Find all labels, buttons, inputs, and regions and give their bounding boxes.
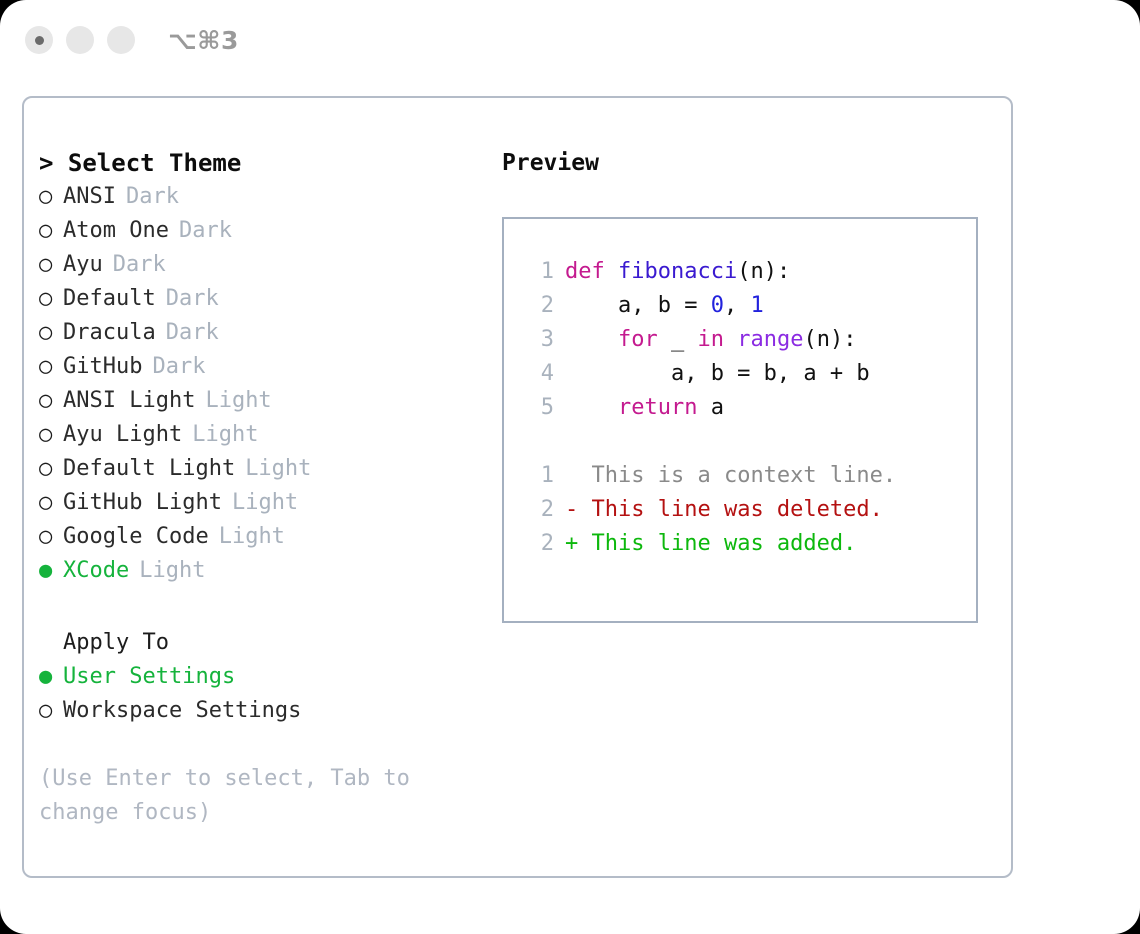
radio-unselected-icon: ○: [39, 316, 63, 350]
theme-picker-column: > Select Theme ○ANSIDark○Atom OneDark○Ay…: [39, 146, 499, 830]
theme-option-kind: Dark: [179, 214, 232, 248]
radio-unselected-icon: ○: [39, 350, 63, 384]
theme-option-label: Default Light: [63, 452, 235, 486]
window-controls: [25, 26, 135, 54]
theme-option-default-light[interactable]: ○Default LightLight: [39, 452, 499, 486]
theme-option-label: Ayu: [63, 248, 103, 282]
line-number: 1: [520, 255, 554, 289]
diff-line-ctx: 1 This is a context line.: [520, 459, 976, 493]
code-line-text: return a: [565, 391, 724, 425]
code-token-plain: ,: [724, 293, 751, 318]
theme-option-kind: Dark: [113, 248, 166, 282]
select-theme-heading: > Select Theme: [39, 146, 499, 180]
apply-to-list: ●User Settings○Workspace Settings: [39, 660, 499, 728]
code-line-text: a, b = b, a + b: [565, 357, 870, 391]
line-number: 2: [520, 289, 554, 323]
theme-option-ansi-light[interactable]: ○ANSI LightLight: [39, 384, 499, 418]
preview-box: 1def fibonacci(n):2 a, b = 0, 13 for _ i…: [502, 217, 978, 623]
window-dot-active-inner: [35, 36, 44, 45]
panel-columns: > Select Theme ○ANSIDark○Atom OneDark○Ay…: [24, 98, 1011, 876]
diff-line-text: This line was deleted.: [592, 493, 883, 527]
radio-unselected-icon: ○: [39, 520, 63, 554]
code-token-fn: fibonacci: [618, 259, 737, 284]
code-token-plain: (n):: [803, 327, 856, 352]
theme-option-ayu-light[interactable]: ○Ayu LightLight: [39, 418, 499, 452]
title-bar: ⌥⌘3: [0, 0, 1140, 80]
theme-option-kind: Dark: [152, 350, 205, 384]
line-number: 4: [520, 357, 554, 391]
radio-unselected-icon: ○: [39, 452, 63, 486]
theme-option-label: Atom One: [63, 214, 169, 248]
code-token-plain: _: [658, 327, 698, 352]
apply-to-option-workspace-settings[interactable]: ○Workspace Settings: [39, 694, 499, 728]
apply-to-option-label: User Settings: [63, 660, 235, 694]
radio-unselected-icon: ○: [39, 214, 63, 248]
code-line: 5 return a: [520, 391, 976, 425]
diff-marker: +: [565, 527, 592, 561]
code-token-num: 0: [711, 293, 724, 318]
preview-column: Preview 1def fibonacci(n):2 a, b = 0, 13…: [502, 146, 1002, 623]
theme-option-ayu[interactable]: ○AyuDark: [39, 248, 499, 282]
theme-option-github[interactable]: ○GitHubDark: [39, 350, 499, 384]
code-token-plain: a, b = b, a + b: [565, 361, 870, 386]
theme-option-xcode[interactable]: ●XCodeLight: [39, 554, 499, 588]
theme-option-github-light[interactable]: ○GitHub LightLight: [39, 486, 499, 520]
code-line: 1def fibonacci(n):: [520, 255, 976, 289]
apply-to-option-label: Workspace Settings: [63, 694, 301, 728]
radio-unselected-icon: ○: [39, 384, 63, 418]
theme-option-kind: Light: [205, 384, 271, 418]
window-dot-3[interactable]: [107, 26, 135, 54]
radio-selected-icon: ●: [39, 660, 63, 694]
diff-line-del: 2- This line was deleted.: [520, 493, 976, 527]
theme-option-label: Default: [63, 282, 156, 316]
code-token-plain: [724, 327, 737, 352]
code-line: 2 a, b = 0, 1: [520, 289, 976, 323]
code-token-kw: return: [618, 395, 697, 420]
code-line: 3 for _ in range(n):: [520, 323, 976, 357]
diff-line-text: This is a context line.: [592, 459, 897, 493]
theme-option-kind: Light: [219, 520, 285, 554]
radio-selected-icon: ●: [39, 554, 63, 588]
code-token-kw: def: [565, 259, 618, 284]
diff-marker: -: [565, 493, 592, 527]
theme-option-google-code[interactable]: ○Google CodeLight: [39, 520, 499, 554]
theme-option-kind: Light: [245, 452, 311, 486]
code-token-kw: for: [618, 327, 658, 352]
hint-spacer: [39, 728, 499, 762]
theme-option-label: ANSI Light: [63, 384, 195, 418]
theme-option-kind: Dark: [166, 316, 219, 350]
main-panel: > Select Theme ○ANSIDark○Atom OneDark○Ay…: [22, 96, 1013, 878]
theme-option-kind: Light: [139, 554, 205, 588]
line-number: 3: [520, 323, 554, 357]
theme-option-default[interactable]: ○DefaultDark: [39, 282, 499, 316]
app-window: ⌥⌘3 > Select Theme ○ANSIDark○Atom OneDar…: [0, 0, 1140, 934]
theme-option-label: GitHub: [63, 350, 142, 384]
diff-line-text: This line was added.: [592, 527, 857, 561]
theme-option-kind: Light: [192, 418, 258, 452]
code-line-text: def fibonacci(n):: [565, 255, 790, 289]
radio-unselected-icon: ○: [39, 418, 63, 452]
theme-option-kind: Light: [232, 486, 298, 520]
code-token-plain: [565, 395, 618, 420]
code-token-plain: a: [697, 395, 724, 420]
theme-option-ansi[interactable]: ○ANSIDark: [39, 180, 499, 214]
theme-option-label: XCode: [63, 554, 129, 588]
section-spacer: [39, 588, 499, 626]
theme-option-label: Ayu Light: [63, 418, 182, 452]
diff-sample: 1 This is a context line.2- This line wa…: [520, 459, 976, 561]
theme-option-label: Google Code: [63, 520, 209, 554]
theme-option-kind: Dark: [166, 282, 219, 316]
window-dot-active[interactable]: [25, 26, 53, 54]
code-sample: 1def fibonacci(n):2 a, b = 0, 13 for _ i…: [520, 255, 976, 425]
theme-option-kind: Dark: [126, 180, 179, 214]
theme-option-label: GitHub Light: [63, 486, 222, 520]
code-token-num: 1: [750, 293, 763, 318]
window-dot-2[interactable]: [66, 26, 94, 54]
line-number: 1: [520, 459, 554, 493]
code-token-plain: [565, 327, 618, 352]
theme-option-dracula[interactable]: ○DraculaDark: [39, 316, 499, 350]
line-number: 5: [520, 391, 554, 425]
theme-option-label: ANSI: [63, 180, 116, 214]
code-token-plain: (n):: [737, 259, 790, 284]
line-number: 2: [520, 527, 554, 561]
theme-list: ○ANSIDark○Atom OneDark○AyuDark○DefaultDa…: [39, 180, 499, 588]
code-line-text: for _ in range(n):: [565, 323, 856, 357]
preview-heading: Preview: [502, 146, 1002, 180]
radio-unselected-icon: ○: [39, 248, 63, 282]
code-line-text: a, b = 0, 1: [565, 289, 764, 323]
code-token-plain: a, b =: [565, 293, 711, 318]
apply-to-heading: Apply To: [39, 626, 499, 660]
radio-unselected-icon: ○: [39, 282, 63, 316]
radio-unselected-icon: ○: [39, 180, 63, 214]
keyboard-shortcut-label: ⌥⌘3: [168, 28, 239, 53]
diff-spacer: [520, 425, 976, 459]
code-token-blt: range: [737, 327, 803, 352]
radio-unselected-icon: ○: [39, 694, 63, 728]
apply-to-option-user-settings[interactable]: ●User Settings: [39, 660, 499, 694]
diff-line-add: 2+ This line was added.: [520, 527, 976, 561]
line-number: 2: [520, 493, 554, 527]
diff-marker: [565, 459, 592, 493]
keyboard-hint: (Use Enter to select, Tab to change focu…: [39, 762, 459, 830]
theme-option-label: Dracula: [63, 316, 156, 350]
code-token-kw: in: [697, 327, 724, 352]
radio-unselected-icon: ○: [39, 486, 63, 520]
theme-option-atom-one[interactable]: ○Atom OneDark: [39, 214, 499, 248]
code-line: 4 a, b = b, a + b: [520, 357, 976, 391]
